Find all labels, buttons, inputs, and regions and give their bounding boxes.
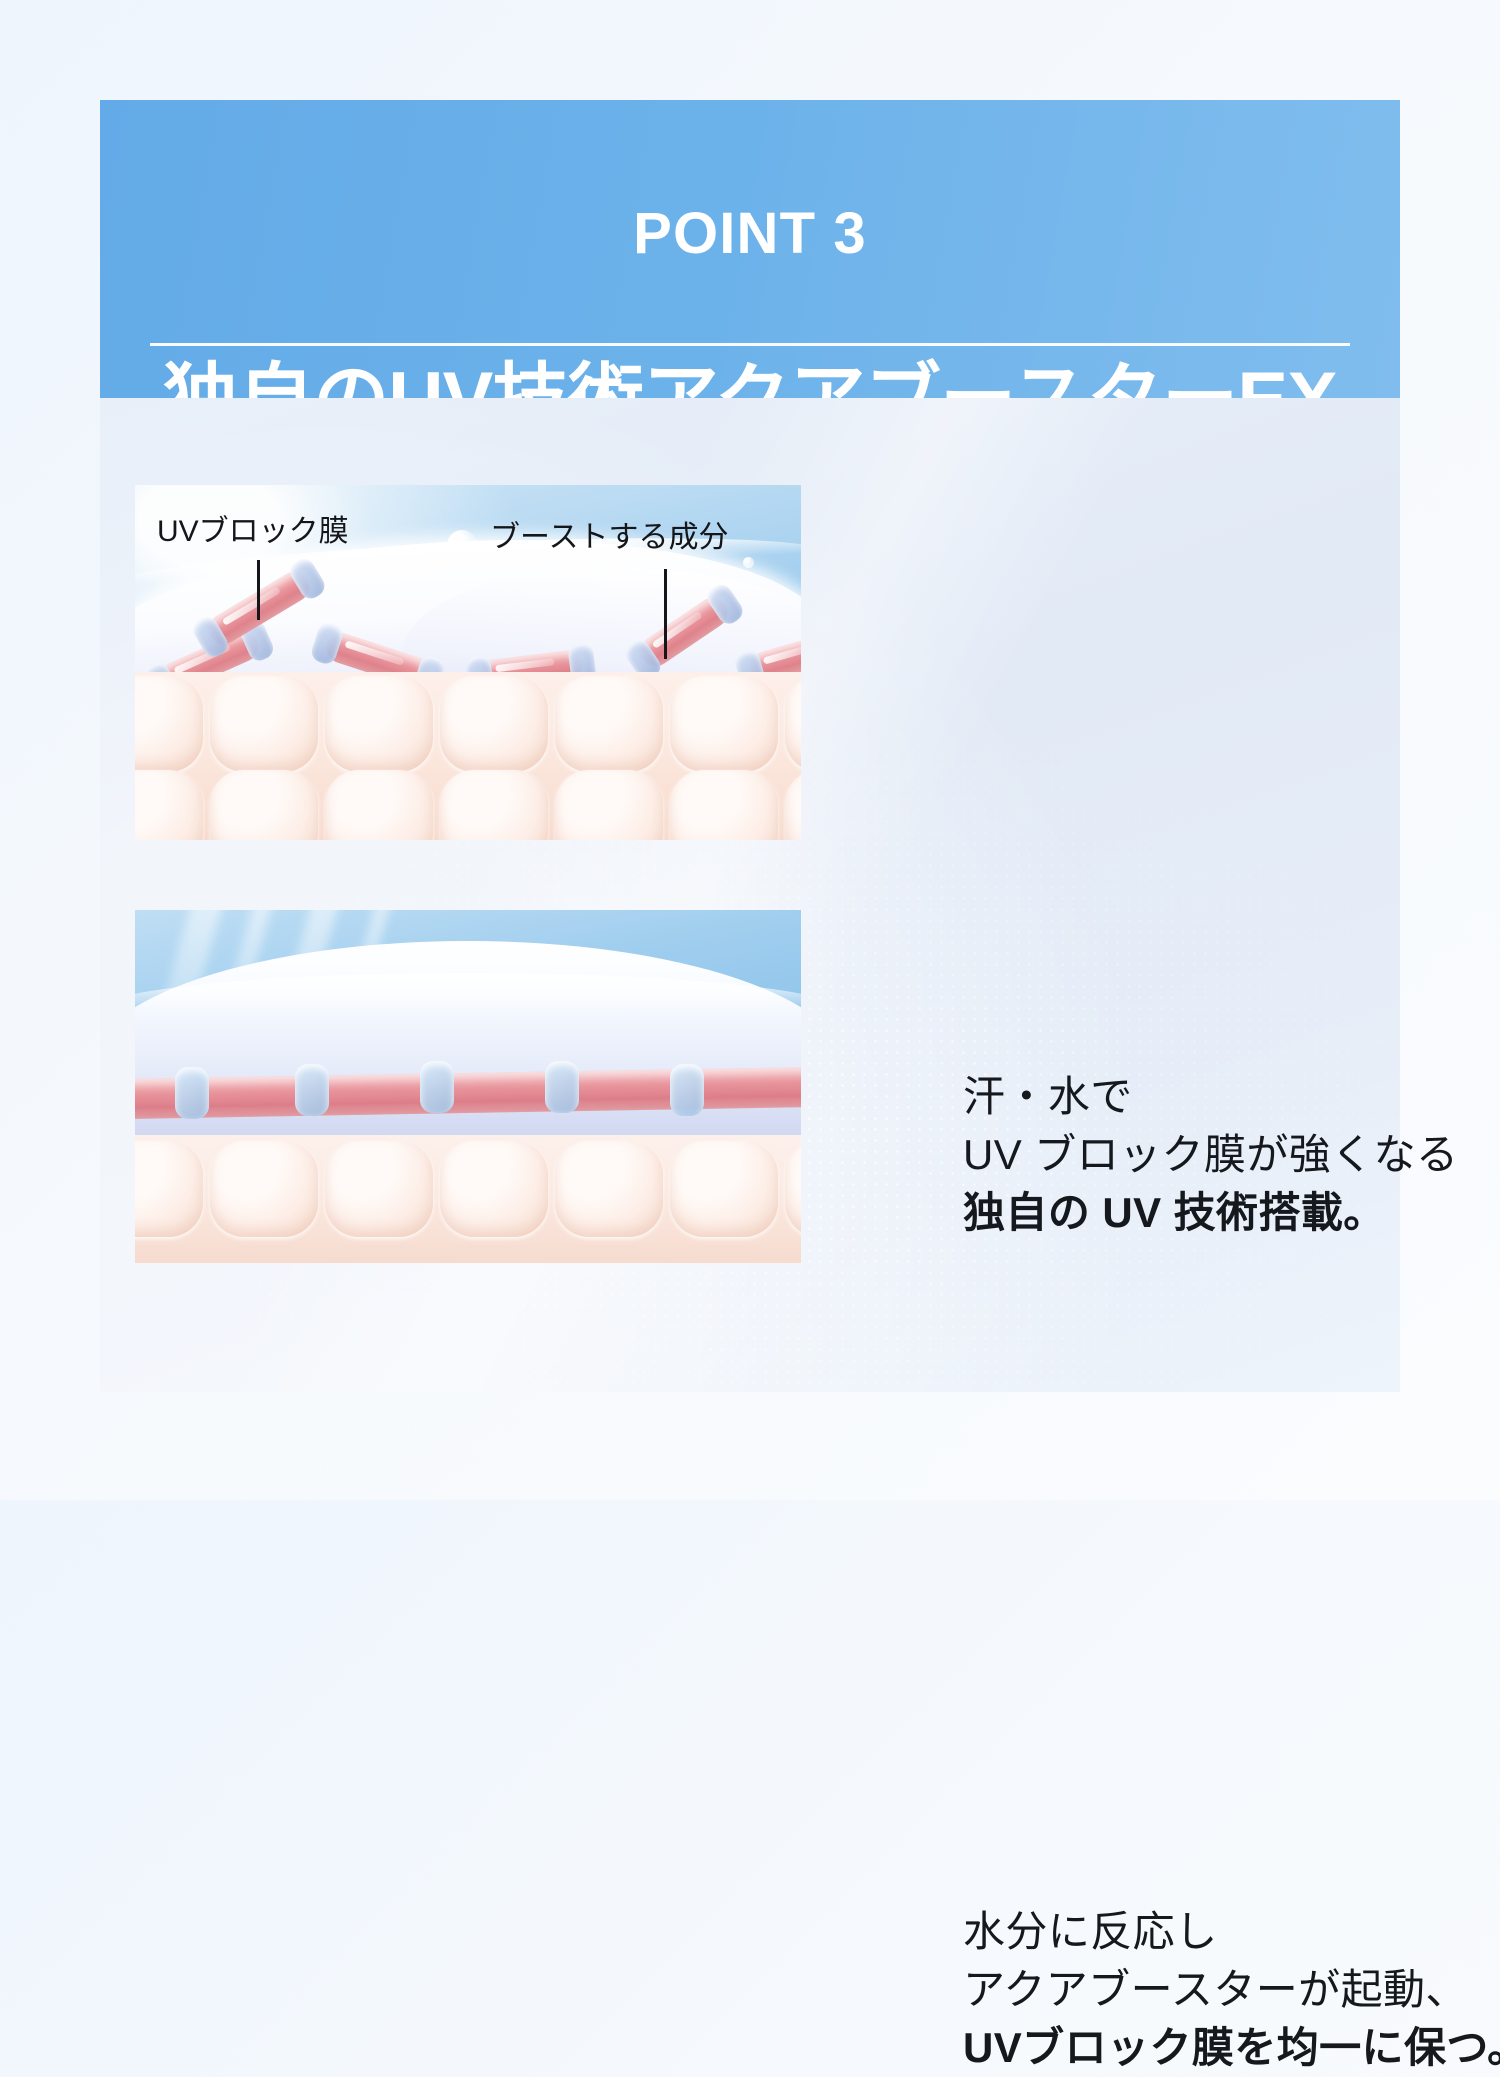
capsule-joint-icon [545,1061,579,1113]
skin-cell [555,676,663,772]
skin-cell [555,770,663,840]
capsule-joint-icon [175,1067,209,1119]
skin-cell [785,676,801,772]
header-title: 独自のUV技術アクアブースターEX [100,362,1400,398]
skin-cell [440,770,548,840]
section-2-copy: 水分に反応し アクアブースターが起動、 UVブロック膜を均一に保つ。 [963,1903,1500,2077]
skin-cell [670,770,778,840]
leader-line [664,569,667,659]
copy-line: アクアブースターが起動、 [963,1961,1500,2019]
skin-cell [670,676,778,772]
skin-cell [440,1141,548,1237]
skin-cell [325,1141,433,1237]
skin-cell [135,770,203,840]
skin-cell-row [135,1141,801,1237]
skin-layer [135,672,801,840]
section-1-copy: 汗・水で UV ブロック膜が強くなる 独自の UV 技術搭載。 [963,1068,1458,1242]
skin-cell [785,770,801,840]
copy-line-emphasis: UVブロック膜を均一に保つ。 [963,2019,1500,2077]
point-label: POINT 3 [100,205,1400,263]
header-banner: POINT 3 独自のUV技術アクアブースターEX [100,100,1400,398]
header-divider [150,343,1350,346]
skin-cell [325,676,433,772]
skin-cell [135,1141,203,1237]
skin-cell [325,770,433,840]
skin-cell-row [135,676,801,772]
bubble-icon [743,557,754,568]
copy-line: 汗・水で [963,1068,1458,1126]
skin-layer [135,1135,801,1263]
figure-label-uv-block-film: UVブロック膜 [157,517,349,547]
promo-page: POINT 3 独自のUV技術アクアブースターEX [0,0,1500,1500]
section-1: UVブロック膜 ブーストする成分 汗・水で UV ブロック膜が強くなる 独自の … [135,485,801,840]
skin-cell [210,770,318,840]
skin-cell [555,1141,663,1237]
capsule-joint-icon [295,1064,329,1116]
skin-cell-row [135,770,801,840]
copy-line: 水分に反応し [963,1903,1500,1961]
figure-label-boost-ingredient: ブーストする成分 [490,523,729,553]
figure-uv-block-film-uniform [135,910,801,1263]
skin-cell [670,1141,778,1237]
capsule-joint-icon [670,1064,704,1116]
section-2: 水分に反応し アクアブースターが起動、 UVブロック膜を均一に保つ。 [135,910,801,1263]
copy-line: UV ブロック膜が強くなる [963,1126,1458,1184]
leader-line [257,560,260,620]
capsule-joint-icon [420,1061,454,1113]
skin-cell [440,676,548,772]
copy-line-emphasis: 独自の UV 技術搭載。 [963,1184,1458,1242]
skin-cell [210,1141,318,1237]
skin-cell [785,1141,801,1237]
skin-cell [210,676,318,772]
skin-cell [135,676,203,772]
figure-uv-block-film-scattered: UVブロック膜 ブーストする成分 [135,485,801,840]
